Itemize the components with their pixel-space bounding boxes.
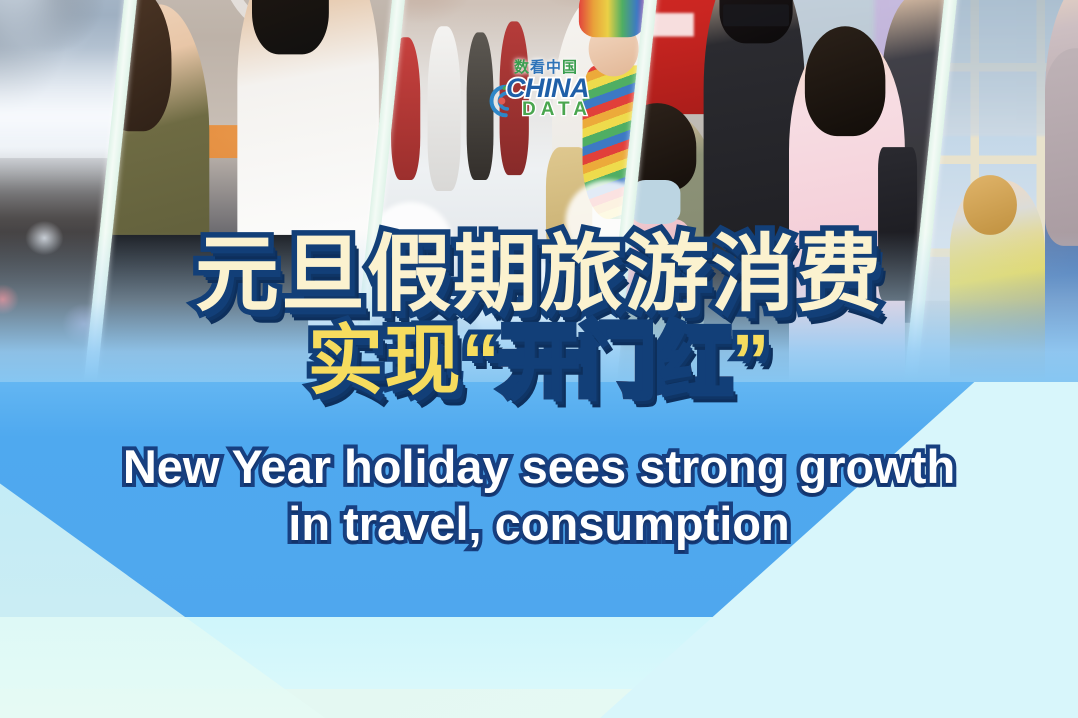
china-data-logo: 数看中国 CHINA DATA (478, 56, 598, 128)
shop-clerk-hair (252, 0, 329, 54)
eyeglasses (723, 4, 789, 26)
face-mask (630, 180, 680, 224)
traveler-pink-coat-hair (805, 26, 886, 136)
display-case (84, 235, 308, 382)
poster-root: 数看中国 CHINA DATA 元旦假期旅游消费 实现“开门红” New Yea… (0, 0, 1078, 718)
rainbow-hat (579, 0, 645, 37)
child-hair (964, 175, 1017, 235)
gold-bar (97, 380, 134, 382)
tourist-figure (427, 26, 460, 191)
logo-word-data: DATA (522, 99, 592, 121)
mother-coat (1045, 48, 1078, 246)
backpack (878, 147, 917, 301)
